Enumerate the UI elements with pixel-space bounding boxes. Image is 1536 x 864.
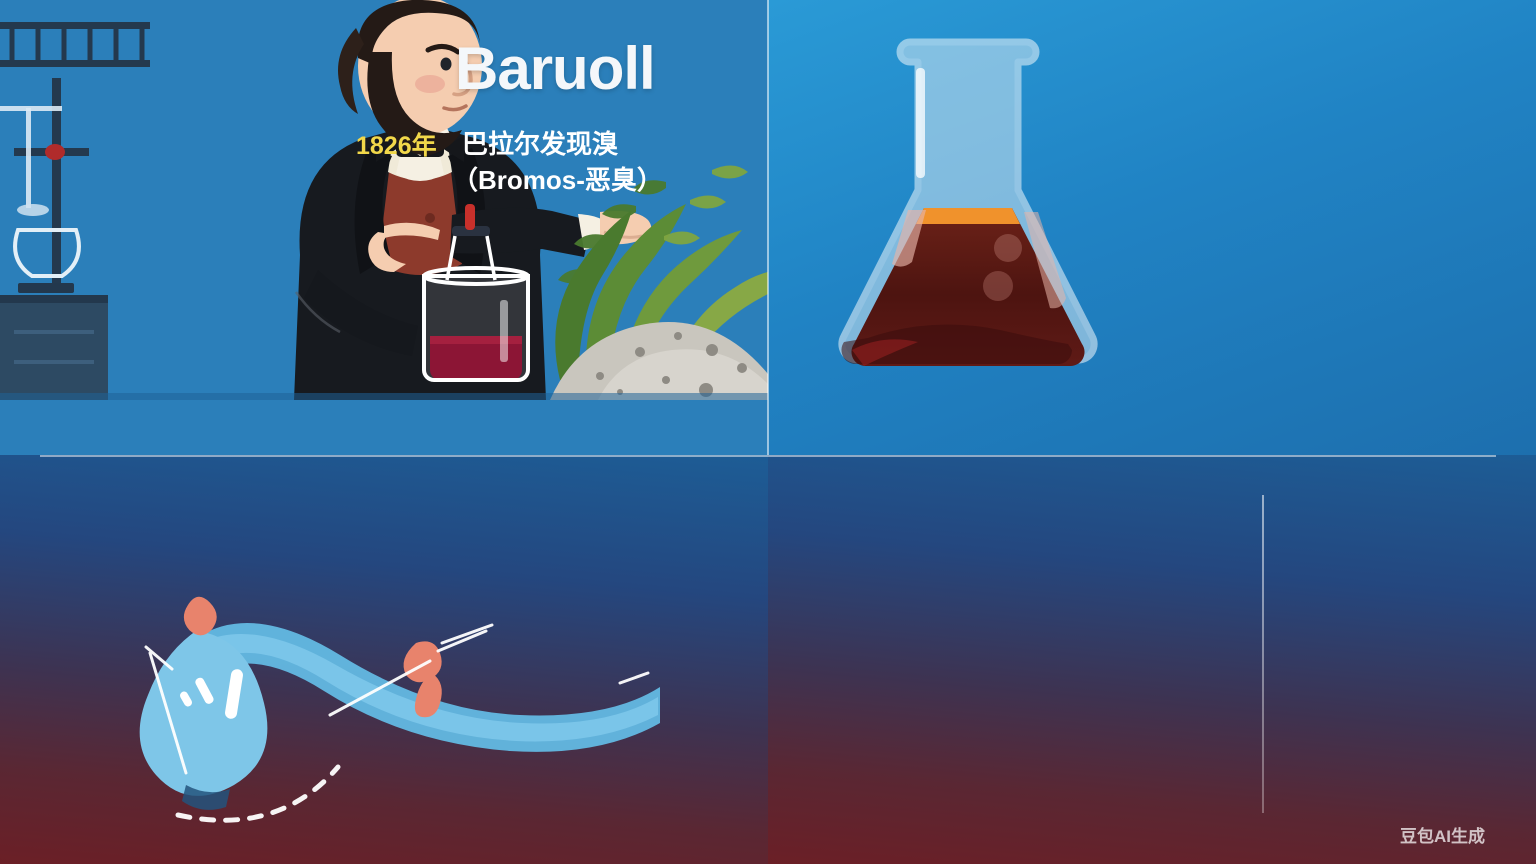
panel-applications-warning: 应用庈穼 哓嗅化彩骰片 xyxy=(768,455,1536,864)
erlenmeyer-flask-icon xyxy=(808,20,1128,380)
discovery-title: Baruoll xyxy=(455,34,655,103)
infographic-poster: Baruoll 1826年 巴拉尔发现溴 （Bromos-恶臭） xyxy=(0,0,1536,864)
salt-pile-icon xyxy=(550,322,768,400)
discovery-etymology: （Bromos-恶臭） xyxy=(452,160,663,197)
watermark: 豆包AI生成 xyxy=(1400,822,1485,847)
divider-horizontal xyxy=(40,455,1496,457)
discovery-year: 1826年 xyxy=(356,126,437,162)
discovery-subtitle: 巴拉尔发现溴 xyxy=(462,124,618,161)
panel-element: H 2-8-18-7 287 18-7 25 溴原子结构 电子分布% Bruo … xyxy=(768,0,1536,455)
panel-chemistry: 化学物䇳 HR+H8〇 HR+ HR-% H8O -(-1==% Br 强氧化性… xyxy=(0,455,768,864)
divider-vertical-bottom xyxy=(1262,495,1264,813)
chemistry-illustration xyxy=(0,455,768,864)
divider-vertical-top xyxy=(767,0,769,455)
panel-discovery: Baruoll 1826年 巴拉尔发现溴 （Bromos-恶臭） xyxy=(0,0,768,455)
lab-apparatus-icon xyxy=(0,22,150,400)
